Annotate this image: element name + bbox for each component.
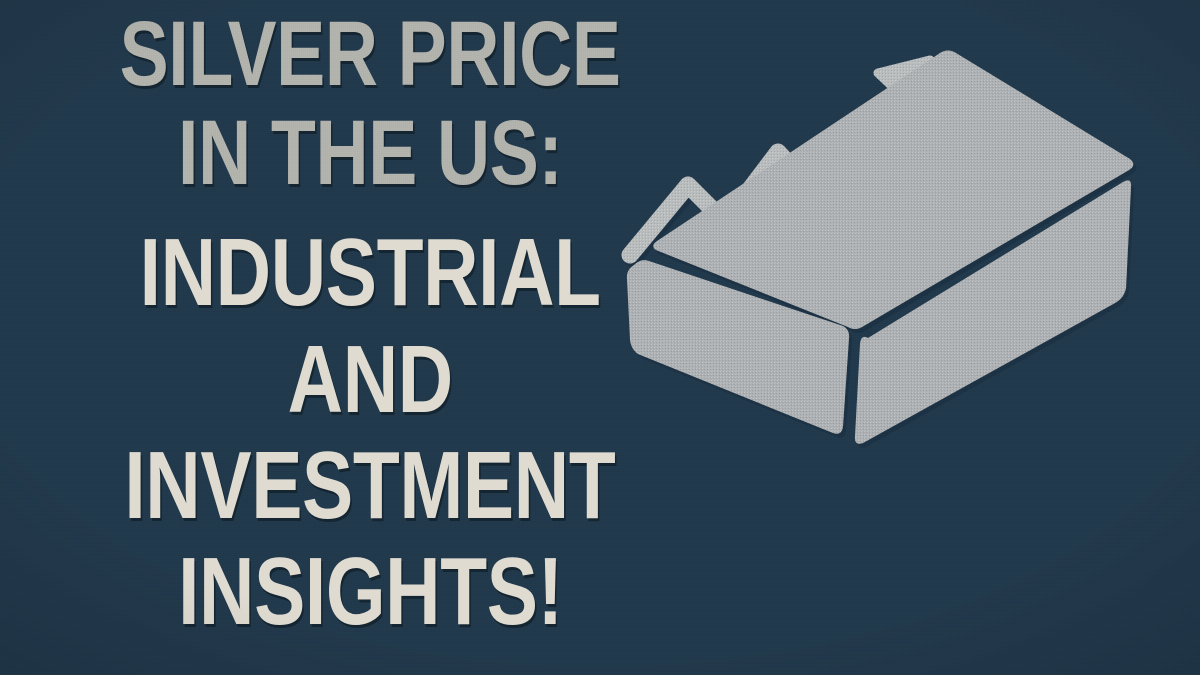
headline-block: SILVER PRICE IN THE US: INDUSTRIAL AND I… xyxy=(0,0,740,675)
headline-line-3: INDUSTRIAL xyxy=(139,229,600,317)
headline-line-4: AND xyxy=(287,336,452,424)
headline-line-6: INSIGHTS! xyxy=(178,548,563,636)
headline-line-2: IN THE US: xyxy=(178,111,562,196)
headline-line-1: SILVER PRICE xyxy=(120,12,621,97)
poster-canvas: SILVER PRICE IN THE US: INDUSTRIAL AND I… xyxy=(0,0,1200,675)
headline-line-5: INVESTMENT xyxy=(125,442,616,530)
